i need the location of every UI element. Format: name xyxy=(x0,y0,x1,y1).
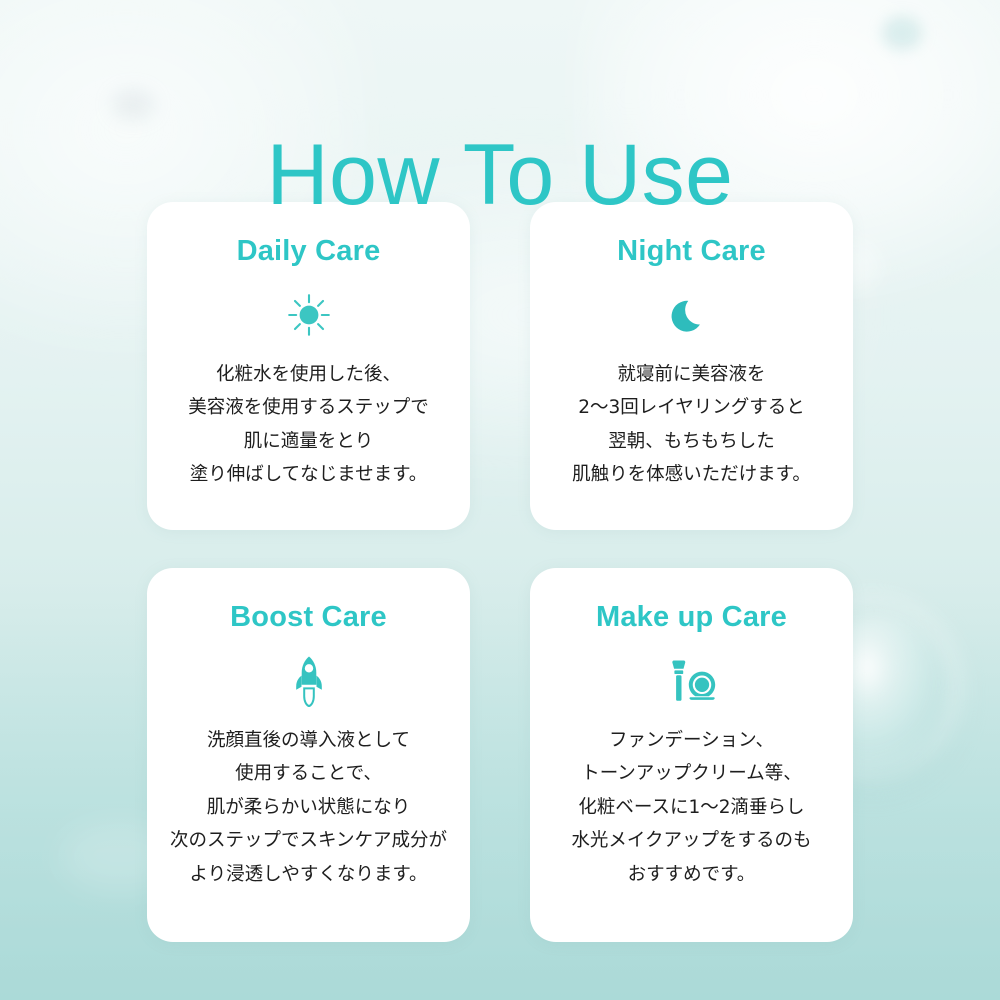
card-title-boost-care: Boost Care xyxy=(230,602,387,634)
card-body-daily-care: 化粧水を使用した後、 美容液を使用するステップで 肌に適量をとり 塗り伸ばしてな… xyxy=(188,358,429,492)
makeup-brush-compact-icon xyxy=(666,656,718,706)
card-night-care[interactable]: Night Care 就寝前に美容液を 2〜3回レイヤリングすると 翌朝、もちも… xyxy=(530,202,853,530)
card-makeup-care[interactable]: Make up Care ファンデーション、 トーンアップク xyxy=(530,568,853,942)
how-to-use-page: How To Use Daily Care xyxy=(0,0,1000,1000)
card-daily-care[interactable]: Daily Care 化粧水を使用した後、 美容液 xyxy=(147,202,470,530)
card-body-night-care: 就寝前に美容液を 2〜3回レイヤリングすると 翌朝、もちもちした 肌触りを体感い… xyxy=(572,358,811,492)
page-title: How To Use xyxy=(0,132,1000,218)
card-boost-care[interactable]: Boost Care 洗顔直後の導入液として 使用することで、 肌が柔らかい状態… xyxy=(147,568,470,942)
rocket-icon xyxy=(292,656,326,706)
sun-icon xyxy=(286,290,332,340)
care-steps-grid: Daily Care 化粧水を使用した後、 美容液 xyxy=(147,202,853,942)
card-title-daily-care: Daily Care xyxy=(237,236,381,268)
background-speck xyxy=(882,16,922,50)
card-title-makeup-care: Make up Care xyxy=(596,602,787,634)
background-speck xyxy=(112,90,154,120)
card-title-night-care: Night Care xyxy=(617,236,766,268)
moon-icon xyxy=(671,290,713,340)
card-body-makeup-care: ファンデーション、 トーンアップクリーム等、 化粧ベースに1〜2滴垂らし 水光メ… xyxy=(571,724,811,892)
card-body-boost-care: 洗顔直後の導入液として 使用することで、 肌が柔らかい状態になり 次のステップで… xyxy=(170,724,447,892)
